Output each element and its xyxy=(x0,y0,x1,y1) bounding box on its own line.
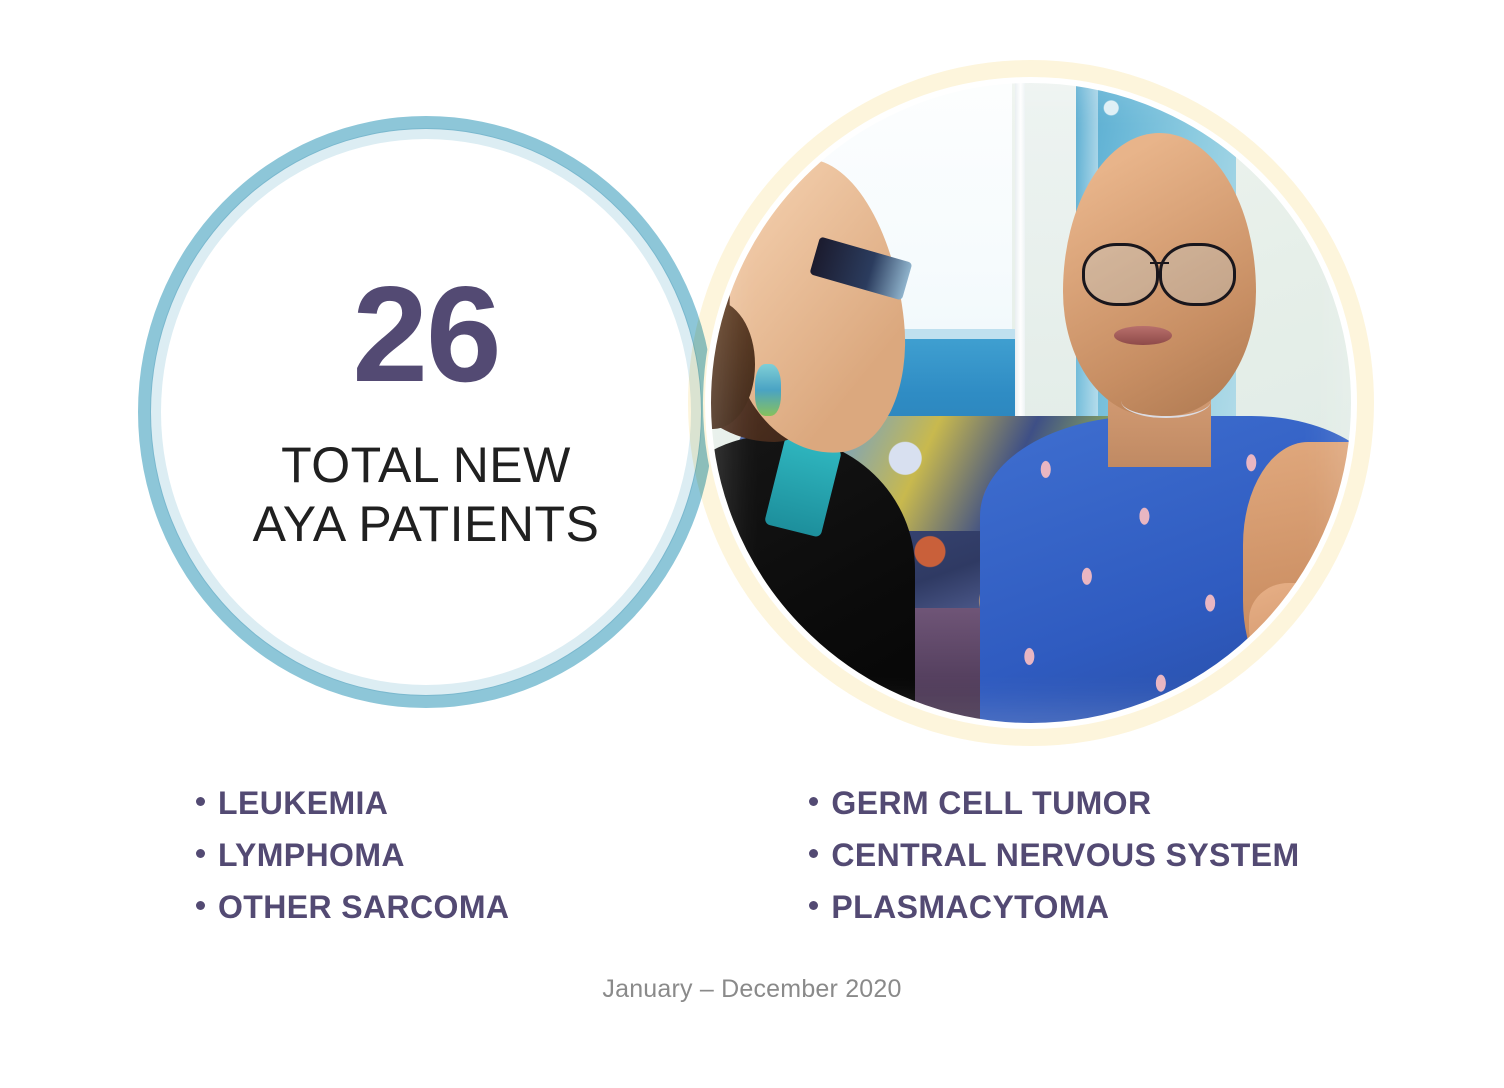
scene-patient-hand xyxy=(1249,583,1339,666)
infographic-canvas: 26 TOTAL NEW AYA PATIENTS xyxy=(0,0,1504,1088)
list-item-label: GERM CELL TUMOR xyxy=(831,778,1151,830)
diagnosis-list-right: GERM CELL TUMOR CENTRAL NERVOUS SYSTEM P… xyxy=(809,778,1299,933)
ring-inner-stroke xyxy=(150,128,702,696)
list-item: GERM CELL TUMOR xyxy=(809,778,1299,830)
date-range-caption: January – December 2020 xyxy=(0,975,1504,1004)
photo-circle xyxy=(688,60,1374,746)
list-item: CENTRAL NERVOUS SYSTEM xyxy=(809,830,1299,882)
list-item: LYMPHOMA xyxy=(196,830,509,882)
bullet-dot-icon xyxy=(196,901,205,910)
list-item-label: LEUKEMIA xyxy=(218,778,388,830)
bullet-dot-icon xyxy=(809,797,818,806)
list-item: LEUKEMIA xyxy=(196,778,509,830)
scene-patient-glasses-right xyxy=(1159,243,1236,307)
diagnosis-list-left: LEUKEMIA LYMPHOMA OTHER SARCOMA xyxy=(196,778,509,933)
scene-patient-glasses-bridge xyxy=(1150,262,1169,264)
bullet-dot-icon xyxy=(196,849,205,858)
list-item: OTHER SARCOMA xyxy=(196,882,509,934)
photo-image xyxy=(710,82,1352,724)
scene-patient-glasses-left xyxy=(1082,243,1159,307)
bullet-dot-icon xyxy=(809,849,818,858)
bullet-dot-icon xyxy=(809,901,818,910)
list-item-label: OTHER SARCOMA xyxy=(218,882,509,934)
list-item: PLASMACYTOMA xyxy=(809,882,1299,934)
scene-caregiver-earring xyxy=(755,364,781,415)
stat-ring-graphic: 26 TOTAL NEW AYA PATIENTS xyxy=(138,116,714,708)
list-item-label: LYMPHOMA xyxy=(218,830,405,882)
photo-scene xyxy=(710,82,1352,724)
list-item-label: PLASMACYTOMA xyxy=(831,882,1109,934)
bullet-dot-icon xyxy=(196,797,205,806)
diagnosis-lists: LEUKEMIA LYMPHOMA OTHER SARCOMA GERM CEL… xyxy=(196,778,1256,933)
scene-patient-necklace xyxy=(1121,384,1211,418)
list-item-label: CENTRAL NERVOUS SYSTEM xyxy=(831,830,1299,882)
